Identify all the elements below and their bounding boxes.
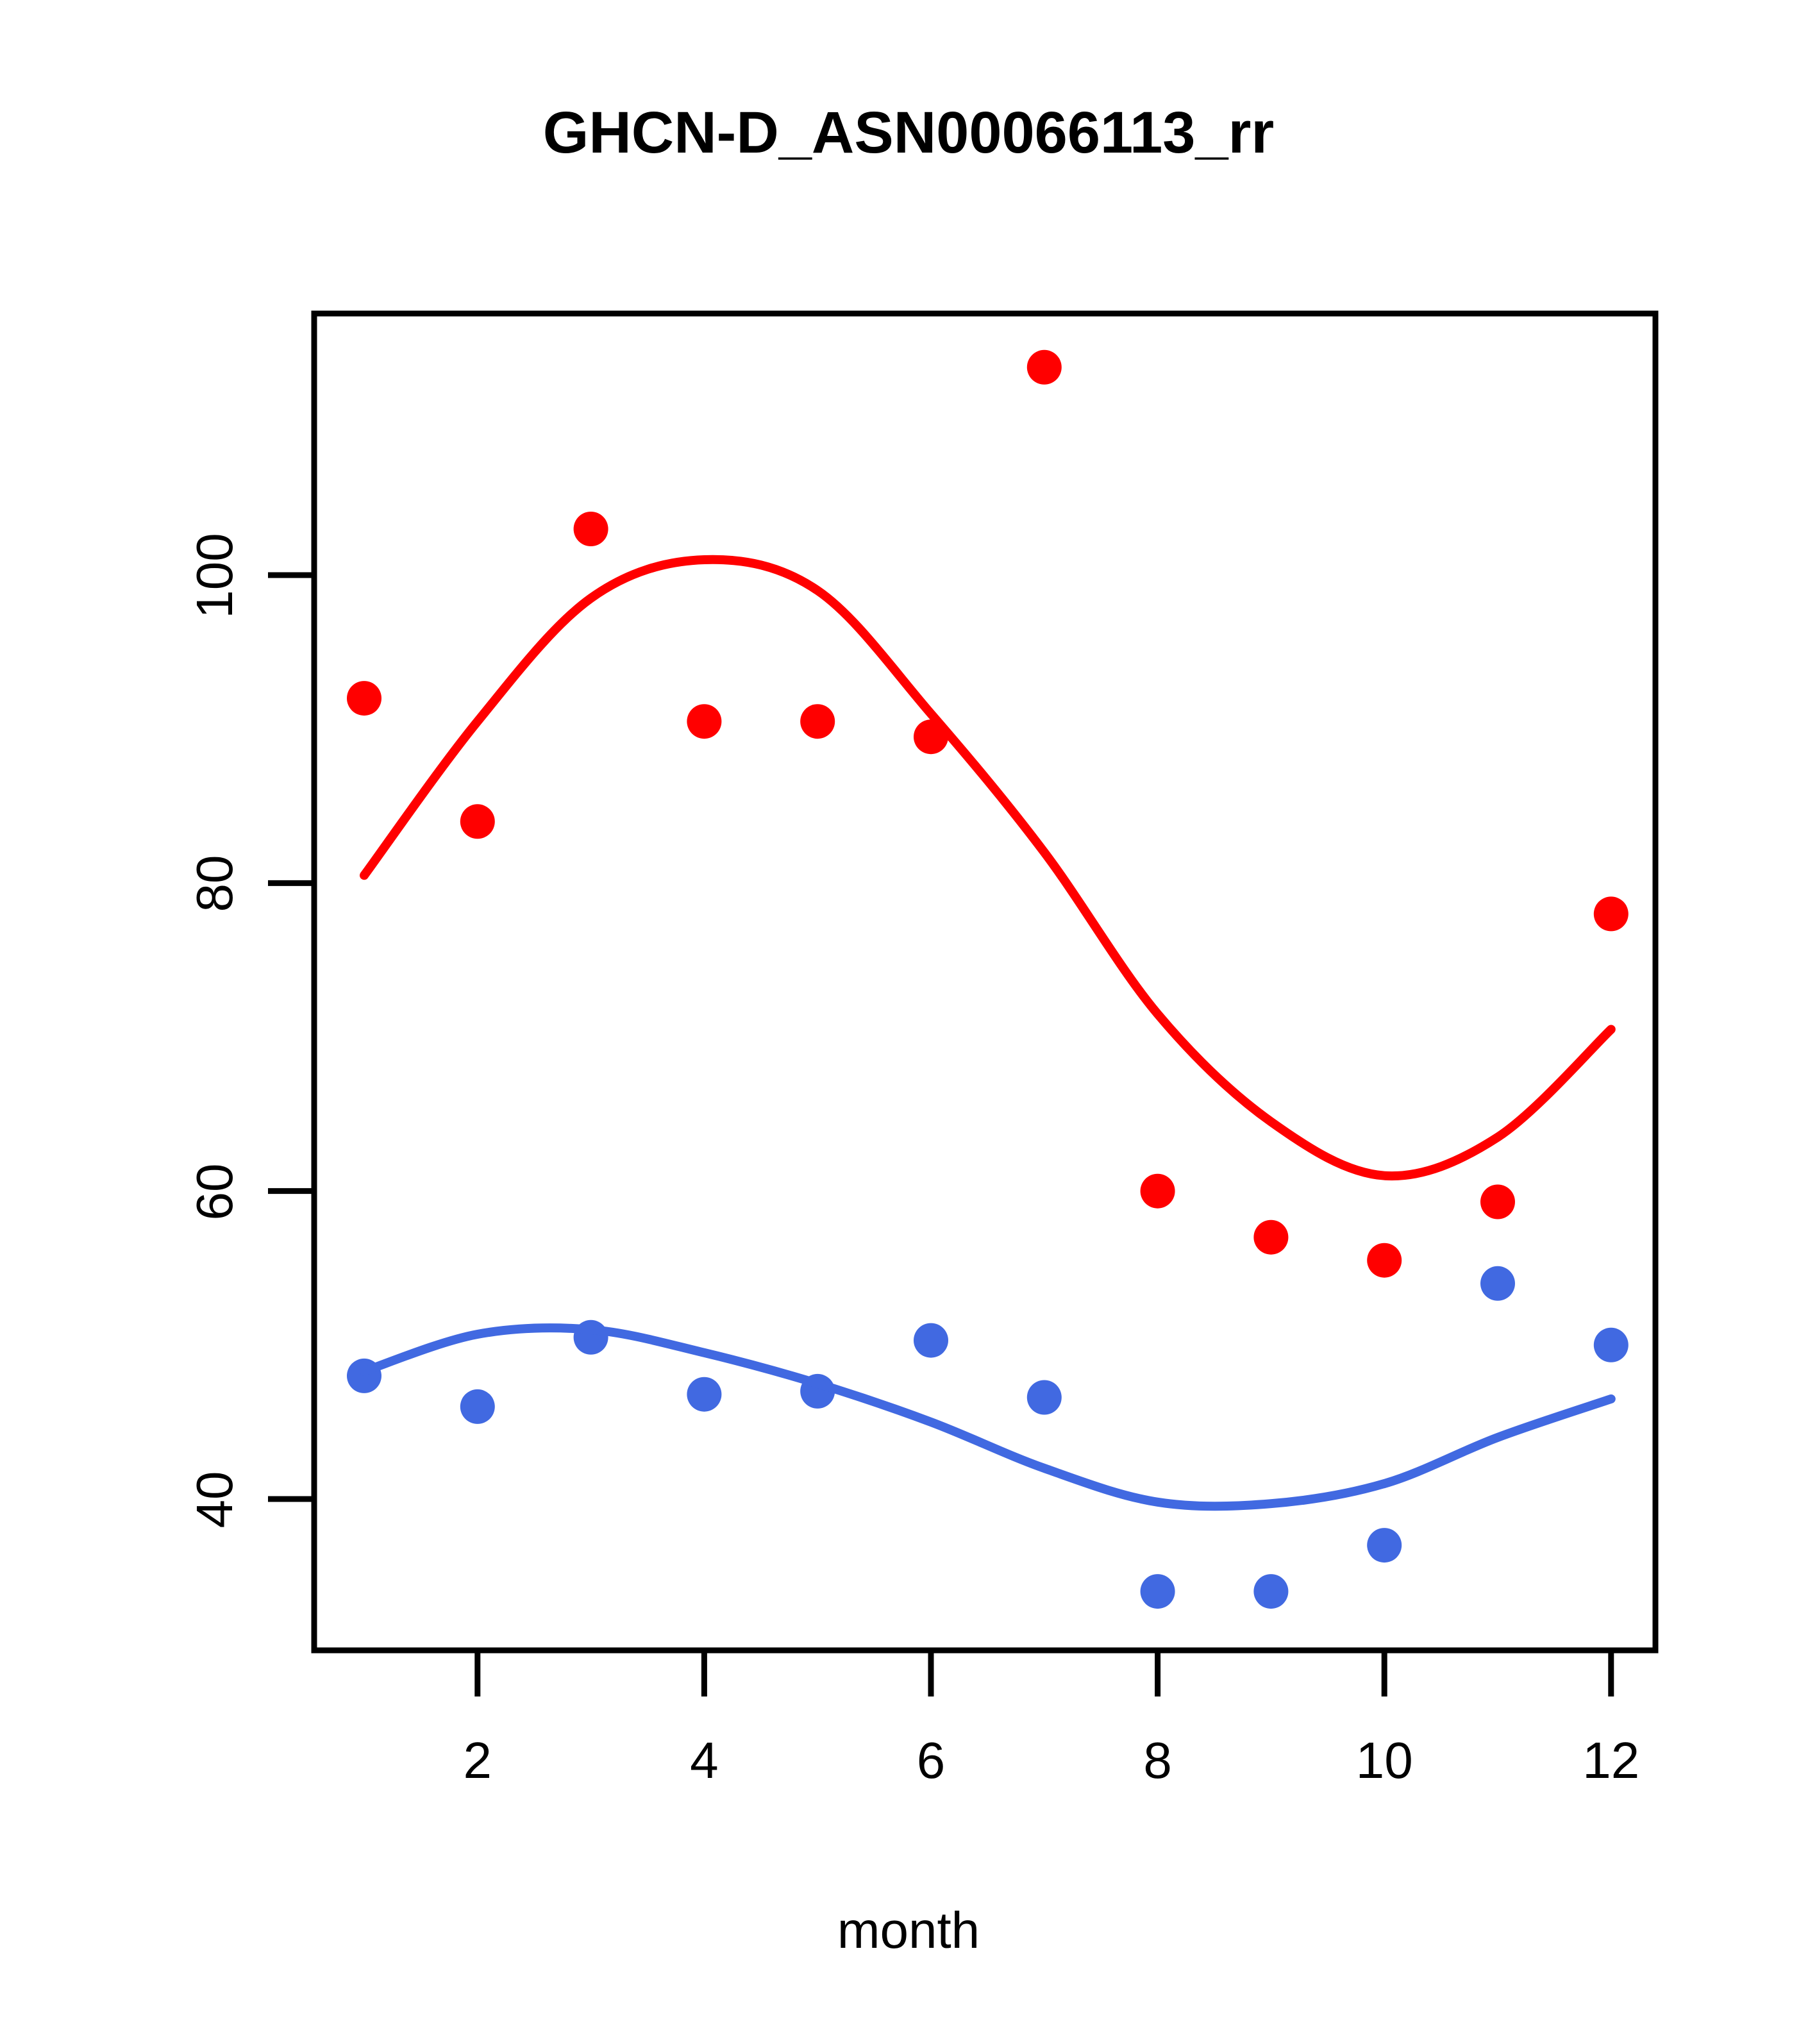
data-point-red-points (687, 704, 721, 739)
data-point-blue-points (687, 1377, 721, 1412)
y-tick-label: 80 (185, 829, 244, 938)
data-point-red-points (800, 704, 835, 739)
series-layer (347, 350, 1629, 1609)
x-tick-label: 10 (1356, 1731, 1413, 1790)
x-tick-label: 2 (464, 1731, 492, 1790)
data-point-blue-points (914, 1323, 948, 1358)
data-point-red-points (1027, 350, 1062, 385)
chart-page: GHCN-D_ASN00066113_rr 406080100 24681012… (0, 0, 1817, 2044)
data-point-red-points (1253, 1220, 1288, 1255)
x-axis-ticks (478, 1650, 1611, 1696)
data-point-red-points (1480, 1185, 1515, 1219)
y-tick-label: 100 (185, 521, 244, 630)
data-point-red-points (347, 681, 381, 716)
data-point-red-points (1594, 896, 1629, 931)
plot-area (0, 0, 1817, 2044)
data-point-blue-points (1253, 1574, 1288, 1609)
data-point-blue-points (1480, 1266, 1515, 1301)
y-tick-label: 40 (185, 1445, 244, 1554)
x-tick-label: 4 (690, 1731, 719, 1790)
data-point-red-points (1367, 1243, 1402, 1278)
x-axis-title: month (0, 1901, 1817, 1960)
y-axis-ticks (268, 575, 314, 1499)
x-tick-label: 6 (917, 1731, 946, 1790)
series-line-blue-line (364, 1328, 1611, 1506)
data-point-blue-points (1367, 1528, 1402, 1562)
data-point-red-points (460, 804, 495, 839)
y-tick-label: 60 (185, 1137, 244, 1246)
data-point-blue-points (1594, 1328, 1629, 1362)
data-point-red-points (574, 512, 608, 546)
data-point-blue-points (1141, 1574, 1175, 1609)
data-point-blue-points (460, 1389, 495, 1424)
data-point-blue-points (1027, 1380, 1062, 1415)
data-point-red-points (1141, 1174, 1175, 1209)
x-tick-label: 12 (1582, 1731, 1639, 1790)
series-line-red-line (364, 560, 1611, 1176)
x-tick-label: 8 (1143, 1731, 1172, 1790)
plot-border (314, 314, 1655, 1650)
